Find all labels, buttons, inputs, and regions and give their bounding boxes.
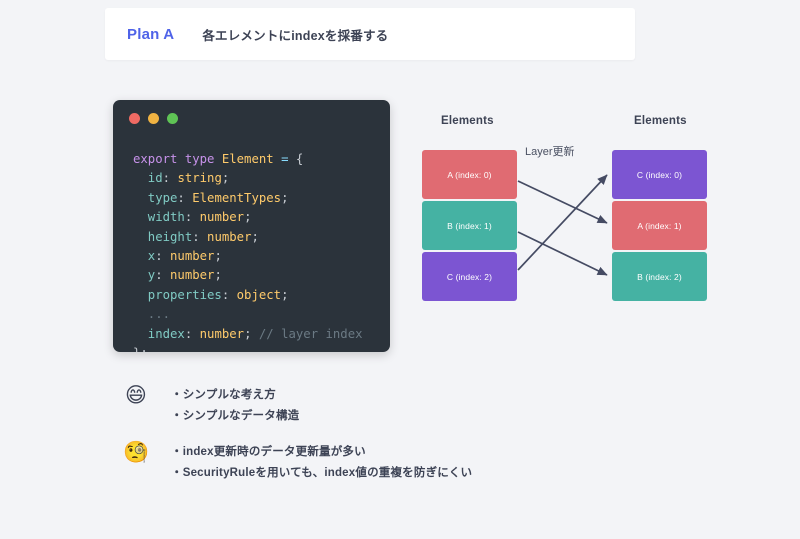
list-item: ・シンプルなデータ構造 <box>171 406 299 427</box>
code-token: number <box>200 210 244 224</box>
plan-header-card: Plan A 各エレメントにindexを採番する <box>105 8 635 60</box>
cons-list: ・index更新時のデータ更新量が多い ・SecurityRuleを用いても、i… <box>171 440 472 484</box>
transition-label: Layer更新 <box>525 143 575 159</box>
code-token: ElementTypes <box>192 191 281 205</box>
right-node-c-label: C (index: 0) <box>637 170 682 180</box>
code-line: height: number; <box>133 228 376 247</box>
pros-section: 😄 ・シンプルな考え方 ・シンプルなデータ構造 <box>123 383 299 427</box>
code-token: number <box>170 249 214 263</box>
code-token: : <box>155 268 170 282</box>
left-node-c-label: C (index: 2) <box>447 272 492 282</box>
list-item: ・SecurityRuleを用いても、index値の重複を防ぎにくい <box>171 463 472 484</box>
code-token: properties <box>133 288 222 302</box>
code-token: }; <box>133 346 148 352</box>
right-node-b[interactable]: B (index: 2) <box>612 252 707 301</box>
code-token: height <box>133 230 192 244</box>
code-line: y: number; <box>133 266 376 285</box>
code-token: ; <box>281 191 288 205</box>
plan-description: 各エレメントにindexを採番する <box>202 25 388 44</box>
code-token: ... <box>133 307 170 321</box>
left-node-a-label: A (index: 0) <box>447 170 491 180</box>
code-line: }; <box>133 344 376 352</box>
code-token: ; <box>214 268 221 282</box>
code-token: : <box>192 230 207 244</box>
code-line: width: number; <box>133 208 376 227</box>
grinning-face-emoji: 😄 <box>123 383 149 409</box>
code-line: type: ElementTypes; <box>133 189 376 208</box>
code-token: number <box>207 230 251 244</box>
maximize-icon[interactable] <box>167 113 178 124</box>
code-token: number <box>170 268 214 282</box>
left-node-c[interactable]: C (index: 2) <box>422 252 517 301</box>
code-token: string <box>177 171 221 185</box>
cons-section: 🧐 ・index更新時のデータ更新量が多い ・SecurityRuleを用いても… <box>123 440 472 484</box>
code-token: ; <box>214 249 221 263</box>
code-token: object <box>237 288 281 302</box>
code-token: : <box>155 249 170 263</box>
code-token: ; <box>281 288 288 302</box>
code-line: properties: object; <box>133 286 376 305</box>
code-line: id: string; <box>133 169 376 188</box>
left-node-b-label: B (index: 1) <box>447 221 492 231</box>
code-line: export type Element = { <box>133 150 376 169</box>
code-token: type <box>133 191 177 205</box>
pros-list: ・シンプルな考え方 ・シンプルなデータ構造 <box>171 383 299 427</box>
window-traffic-lights <box>129 113 178 124</box>
code-token: { <box>288 152 303 166</box>
code-block: export type Element = { id: string; type… <box>113 144 390 352</box>
thinking-face-emoji: 🧐 <box>123 440 149 466</box>
right-node-a-label: A (index: 1) <box>637 221 681 231</box>
code-token <box>214 152 221 166</box>
code-token: : <box>222 288 237 302</box>
code-line: x: number; <box>133 247 376 266</box>
code-token: index <box>133 327 185 341</box>
code-token: y <box>133 268 155 282</box>
right-node-c[interactable]: C (index: 0) <box>612 150 707 199</box>
left-column-title: Elements <box>441 115 494 127</box>
code-token: x <box>133 249 155 263</box>
code-token: ; <box>244 210 251 224</box>
list-item: ・シンプルな考え方 <box>171 385 299 406</box>
code-token: number <box>200 327 244 341</box>
left-node-b[interactable]: B (index: 1) <box>422 201 517 250</box>
right-node-b-label: B (index: 2) <box>637 272 682 282</box>
code-token: : <box>185 210 200 224</box>
code-window: export type Element = { id: string; type… <box>113 100 390 352</box>
code-token <box>274 152 281 166</box>
layer-update-diagram: Elements Elements Layer更新 A (index: 0) B… <box>415 115 715 305</box>
code-token: : <box>177 191 192 205</box>
list-item: ・index更新時のデータ更新量が多い <box>171 442 472 463</box>
code-token: ; <box>244 327 259 341</box>
code-token: width <box>133 210 185 224</box>
code-line: ... <box>133 305 376 324</box>
code-token: ; <box>222 171 229 185</box>
code-token: // layer index <box>259 327 363 341</box>
right-column-title: Elements <box>634 115 687 127</box>
code-token: : <box>185 327 200 341</box>
code-token: id <box>133 171 163 185</box>
code-token: export type <box>133 152 214 166</box>
minimize-icon[interactable] <box>148 113 159 124</box>
code-token: Element <box>222 152 274 166</box>
code-line: index: number; // layer index <box>133 325 376 344</box>
code-token: ; <box>251 230 258 244</box>
left-node-a[interactable]: A (index: 0) <box>422 150 517 199</box>
right-node-a[interactable]: A (index: 1) <box>612 201 707 250</box>
code-token: : <box>163 171 178 185</box>
plan-label: Plan A <box>127 26 174 43</box>
close-icon[interactable] <box>129 113 140 124</box>
